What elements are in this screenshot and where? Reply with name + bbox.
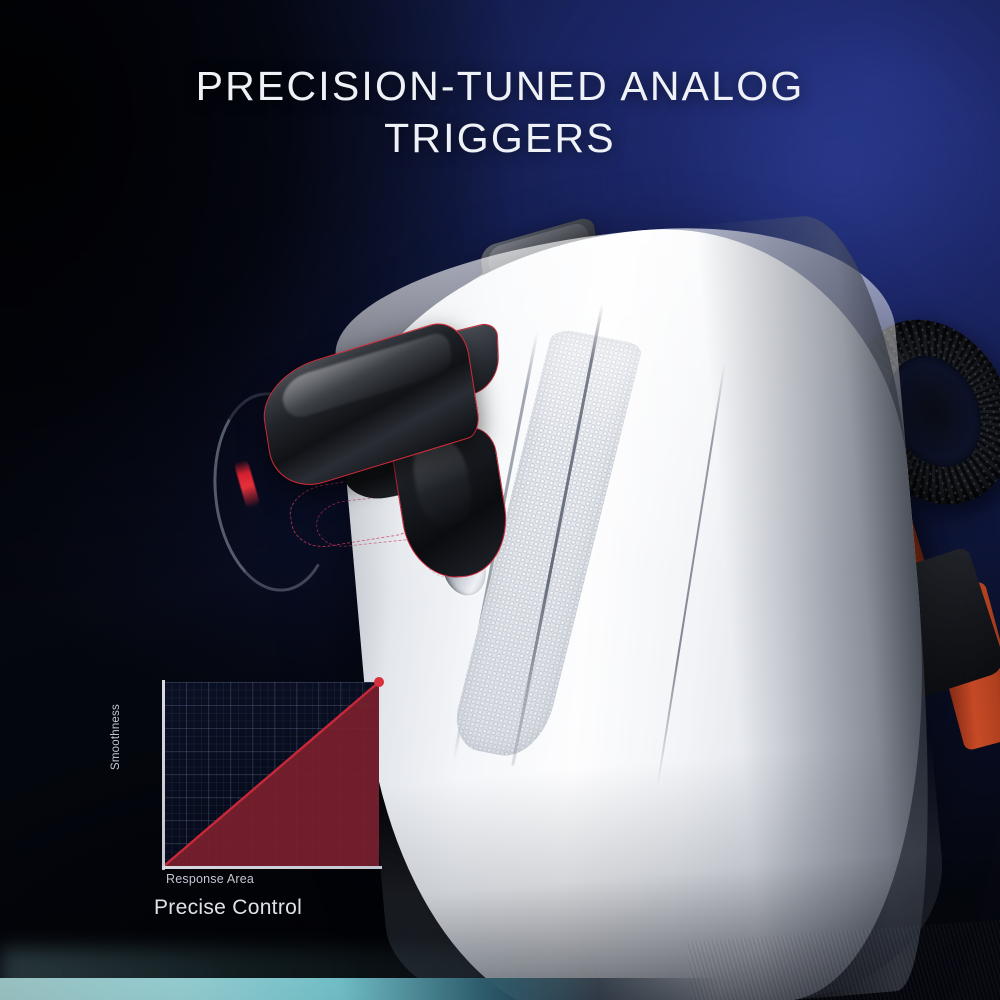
product-feature-banner: PRECISION-TUNED ANALOG TRIGGERS — [0, 0, 1000, 1000]
background-vignette — [0, 0, 1000, 1000]
